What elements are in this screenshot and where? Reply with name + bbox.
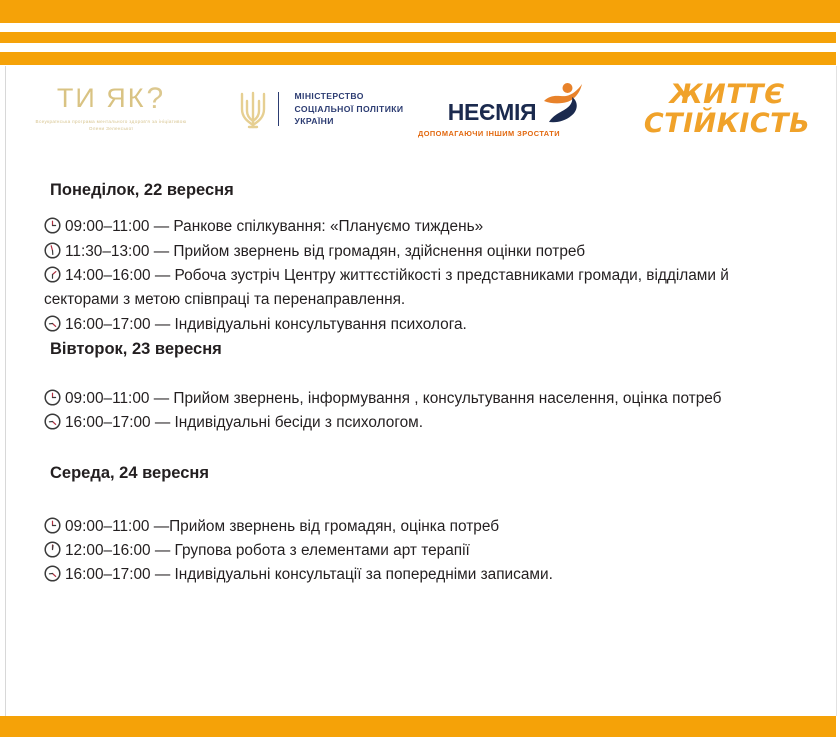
ty-yak-wordmark: ТИ ЯК?	[57, 85, 165, 112]
schedule-entry: 11:30–13:00 — Прийом звернень від громад…	[44, 240, 780, 264]
clock-nine-icon	[44, 517, 61, 534]
schedule-entry: 16:00–17:00 — Індивідуальні консультуван…	[44, 313, 780, 337]
neemia-wordmark: НЕЄМІЯ	[448, 101, 537, 124]
logo-neemia: НЕЄМІЯ ДОПОМАГАЮЧИ ІНШИМ ЗРОСТАТИ	[418, 70, 614, 148]
ministry-wordmark: МІНІСТЕРСТВО СОЦІАЛЬНОЇ ПОЛІТИКИ УКРАЇНИ	[294, 90, 403, 127]
day-entries: 09:00–11:00 — Ранкове спілкування: «План…	[0, 215, 840, 337]
schedule-entry: 09:00–11:00 —Прийом звернень від громадя…	[44, 515, 780, 539]
stripe-lower	[0, 52, 836, 65]
logo-header-row: ТИ ЯК? Всеукраїнська програма ментальног…	[0, 70, 840, 148]
schedule-entry-text: 11:30–13:00 — Прийом звернень від громад…	[65, 243, 585, 260]
zh-line-2: СТІЙКІСТЬ	[644, 109, 810, 138]
clock-nine-icon	[44, 389, 61, 406]
schedule-entry: 09:00–11:00 — Прийом звернень, інформува…	[44, 387, 780, 411]
stripe-middle	[0, 32, 836, 43]
clock-four-icon	[44, 413, 61, 430]
schedule-entry: 16:00–17:00 — Індивідуальні консультації…	[44, 563, 780, 587]
ty-yak-tagline: Всеукраїнська програма ментального здоро…	[31, 119, 191, 132]
schedule-entry-text: 09:00–11:00 —Прийом звернень від громадя…	[65, 518, 499, 535]
clock-four-icon	[44, 565, 61, 582]
running-person-icon	[540, 81, 584, 123]
day-entries: 09:00–11:00 — Прийом звернень, інформува…	[0, 387, 840, 436]
logo-ty-yak: ТИ ЯК? Всеукраїнська програма ментальног…	[0, 70, 222, 148]
day-block-tuesday: Вівторок, 23 вересня 09:00–11:00 — Прийо…	[0, 339, 840, 435]
ministry-line-2: СОЦІАЛЬНОЇ ПОЛІТИКИ	[294, 103, 403, 115]
day-block-monday: Понеділок, 22 вересня 09:00–11:00 — Ранк…	[0, 180, 840, 337]
schedule-entry-text: 09:00–11:00 — Ранкове спілкування: «План…	[65, 218, 483, 235]
schedule-entry-text: 16:00–17:00 — Індивідуальні консультуван…	[65, 316, 467, 333]
clock-nine-icon	[44, 217, 61, 234]
neemia-tagline: ДОПОМАГАЮЧИ ІНШИМ ЗРОСТАТИ	[418, 129, 560, 138]
clock-two-icon	[44, 266, 61, 283]
stripe-top	[0, 0, 840, 23]
clock-twelve-icon	[44, 541, 61, 558]
footer-bar	[0, 716, 836, 737]
ministry-divider	[278, 92, 279, 126]
schedule-entry: 09:00–11:00 — Ранкове спілкування: «План…	[44, 215, 780, 239]
logo-ministry-of-social-policy: МІНІСТЕРСТВО СОЦІАЛЬНОЇ ПОЛІТИКИ УКРАЇНИ	[222, 70, 418, 148]
schedule-entry-text: 16:00–17:00 — Індивідуальні бесіди з пси…	[65, 414, 423, 431]
schedule-entry: 16:00–17:00 — Індивідуальні бесіди з пси…	[44, 411, 780, 435]
ty-yak-word-text: ТИ ЯК	[57, 85, 146, 112]
day-entries: 09:00–11:00 —Прийом звернень від громадя…	[0, 515, 840, 588]
schedule-entry-text: 12:00–16:00 — Групова робота з елементам…	[65, 542, 470, 559]
ty-yak-question-mark-icon: ?	[146, 85, 165, 112]
schedule-entry: 14:00–16:00 — Робоча зустріч Центру житт…	[44, 264, 780, 313]
ministry-line-1: МІНІСТЕРСТВО	[294, 90, 403, 102]
neemia-lockup: НЕЄМІЯ	[448, 81, 585, 124]
clock-eleven-icon	[44, 242, 61, 259]
header-stripes	[0, 0, 840, 66]
schedule-entry: 12:00–16:00 — Групова робота з елементам…	[44, 539, 780, 563]
day-title: Середа, 24 вересня	[0, 463, 840, 484]
ukraine-trident-icon	[236, 87, 270, 131]
clock-four-icon	[44, 315, 61, 332]
day-block-wednesday: Середа, 24 вересня 09:00–11:00 —Прийом з…	[0, 463, 840, 587]
schedule-body: Понеділок, 22 вересня 09:00–11:00 — Ранк…	[0, 160, 840, 588]
day-title: Вівторок, 23 вересня	[0, 339, 840, 360]
day-title: Понеділок, 22 вересня	[0, 180, 840, 201]
logo-zhyttiestiikist: ЖИТТЄ СТІЙКІСТЬ	[614, 70, 840, 148]
zh-line-1: ЖИТТЄ	[670, 80, 785, 109]
ministry-line-3: УКРАЇНИ	[294, 115, 403, 127]
schedule-entry-text: 09:00–11:00 — Прийом звернень, інформува…	[65, 390, 722, 407]
schedule-entry-text: 16:00–17:00 — Індивідуальні консультації…	[65, 566, 553, 583]
schedule-entry-text: 14:00–16:00 — Робоча зустріч Центру житт…	[44, 267, 729, 308]
